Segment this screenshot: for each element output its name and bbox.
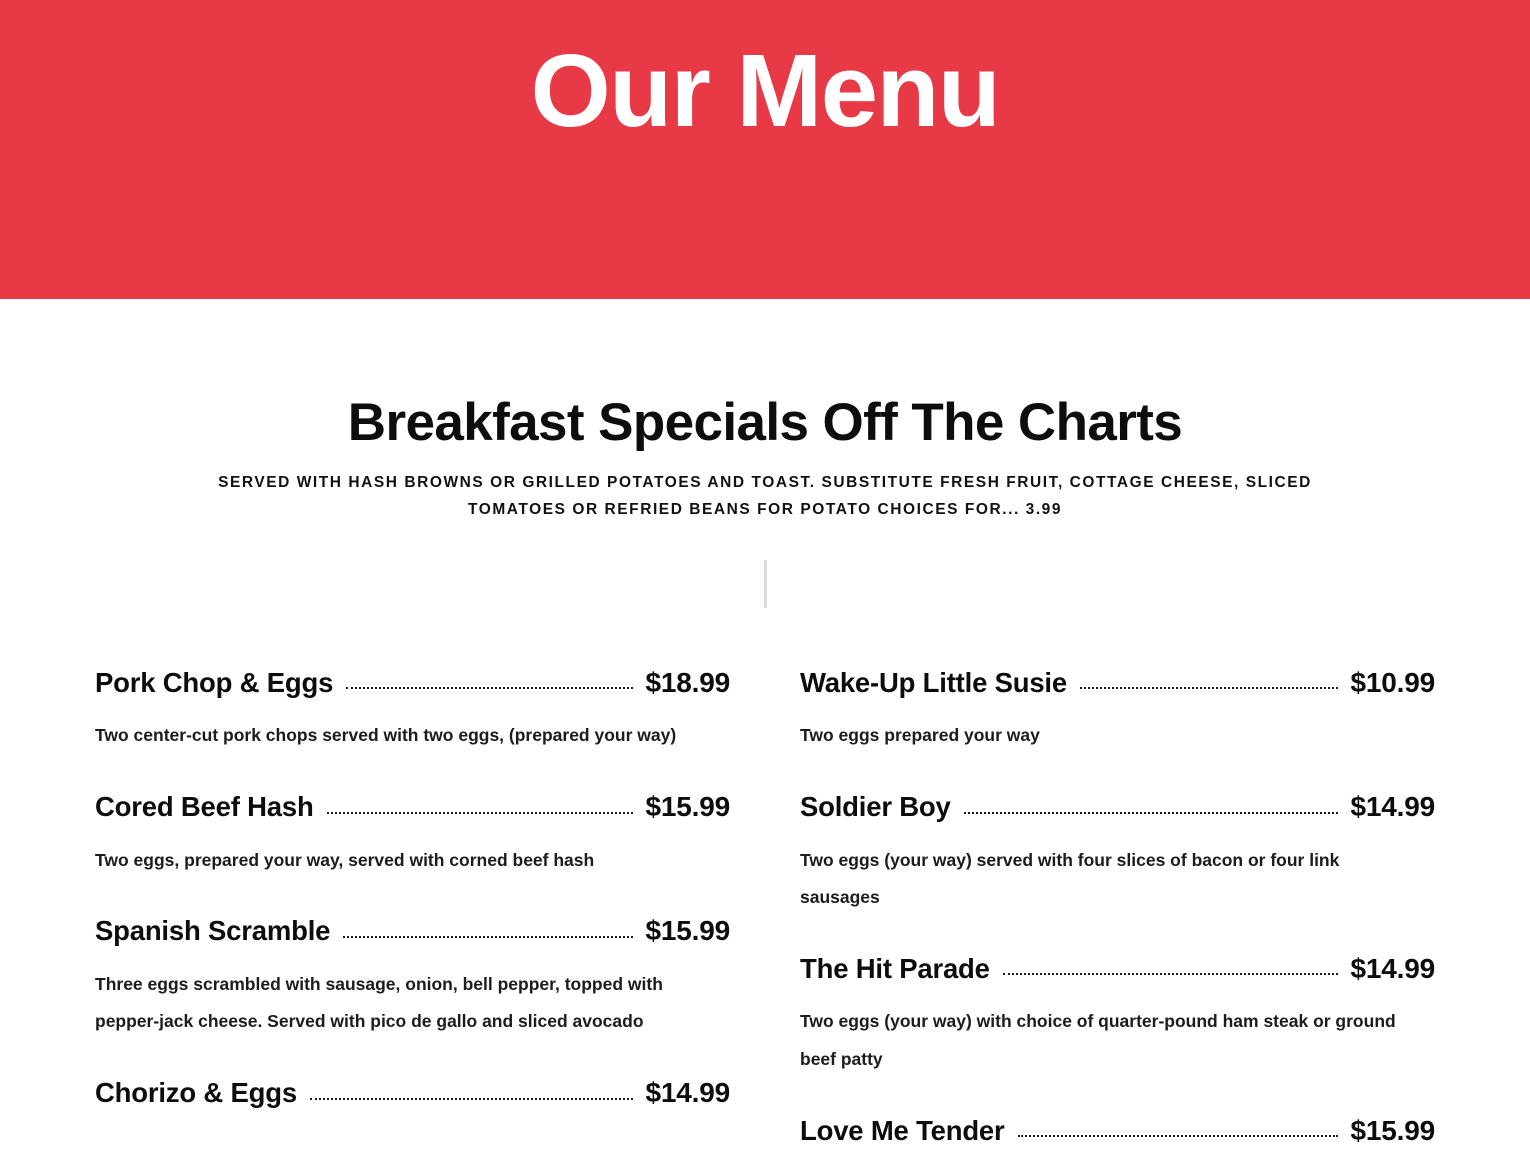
menu-item-header: Pork Chop & Eggs$18.99: [95, 663, 730, 704]
menu-item-name: The Hit Parade: [800, 949, 990, 989]
menu-item[interactable]: Love Me Tender$15.99: [800, 1111, 1435, 1151]
dotted-leader: [964, 812, 1338, 814]
menu-item-price: $15.99: [646, 787, 730, 828]
vertical-divider: [764, 560, 767, 608]
menu-item-name: Spanish Scramble: [95, 911, 330, 951]
divider-container: [0, 560, 1530, 608]
menu-column-right: Wake-Up Little Susie$10.99Two eggs prepa…: [800, 663, 1435, 1151]
dotted-leader: [327, 812, 633, 814]
menu-item-description: Three eggs scrambled with sausage, onion…: [95, 966, 715, 1041]
menu-item-name: Cored Beef Hash: [95, 787, 314, 827]
menu-item-header: Soldier Boy$14.99: [800, 787, 1435, 828]
section-heading: Breakfast Specials Off The Charts: [0, 391, 1530, 455]
menu-body: Breakfast Specials Off The Charts Served…: [0, 299, 1530, 1151]
menu-item-header: The Hit Parade$14.99: [800, 949, 1435, 990]
dotted-leader: [343, 936, 632, 938]
page-banner: Our Menu: [0, 0, 1530, 299]
menu-item-description: Two eggs (your way) served with four sli…: [800, 842, 1420, 917]
menu-column-left: Pork Chop & Eggs$18.99Two center-cut por…: [95, 663, 730, 1151]
menu-item-price: $18.99: [646, 663, 730, 704]
menu-item-price: $15.99: [1351, 1111, 1435, 1151]
menu-item-description: Two eggs prepared your way: [800, 717, 1420, 755]
menu-item-description: Two eggs (your way) with choice of quart…: [800, 1003, 1420, 1078]
menu-item[interactable]: Wake-Up Little Susie$10.99Two eggs prepa…: [800, 663, 1435, 755]
section-subtitle: Served with hash browns or grilled potat…: [200, 469, 1330, 524]
menu-item-name: Pork Chop & Eggs: [95, 663, 333, 703]
dotted-leader: [1080, 687, 1338, 689]
menu-item-name: Soldier Boy: [800, 787, 951, 827]
menu-item-header: Love Me Tender$15.99: [800, 1111, 1435, 1151]
dotted-leader: [1003, 973, 1338, 975]
menu-item-price: $15.99: [646, 911, 730, 952]
menu-item[interactable]: Spanish Scramble$15.99Three eggs scrambl…: [95, 911, 730, 1041]
menu-item-header: Cored Beef Hash$15.99: [95, 787, 730, 828]
menu-item-name: Wake-Up Little Susie: [800, 663, 1067, 703]
menu-item-header: Chorizo & Eggs$14.99: [95, 1073, 730, 1114]
menu-item-name: Love Me Tender: [800, 1111, 1005, 1151]
menu-item[interactable]: The Hit Parade$14.99Two eggs (your way) …: [800, 949, 1435, 1079]
dotted-leader: [346, 687, 632, 689]
menu-item[interactable]: Soldier Boy$14.99Two eggs (your way) ser…: [800, 787, 1435, 917]
menu-item-price: $14.99: [1351, 949, 1435, 990]
menu-item[interactable]: Cored Beef Hash$15.99Two eggs, prepared …: [95, 787, 730, 879]
dotted-leader: [310, 1098, 633, 1100]
menu-item-price: $14.99: [1351, 787, 1435, 828]
menu-item-header: Wake-Up Little Susie$10.99: [800, 663, 1435, 704]
menu-item-name: Chorizo & Eggs: [95, 1073, 297, 1113]
menu-item-price: $14.99: [646, 1073, 730, 1114]
menu-item-price: $10.99: [1351, 663, 1435, 704]
menu-item-description: Two center-cut pork chops served with tw…: [95, 717, 715, 755]
menu-item-header: Spanish Scramble$15.99: [95, 911, 730, 952]
menu-columns: Pork Chop & Eggs$18.99Two center-cut por…: [95, 663, 1435, 1151]
menu-item-description: Two eggs, prepared your way, served with…: [95, 842, 715, 880]
menu-item[interactable]: Chorizo & Eggs$14.99: [95, 1073, 730, 1114]
page-title: Our Menu: [531, 0, 1000, 154]
dotted-leader: [1018, 1135, 1338, 1137]
menu-item[interactable]: Pork Chop & Eggs$18.99Two center-cut por…: [95, 663, 730, 755]
